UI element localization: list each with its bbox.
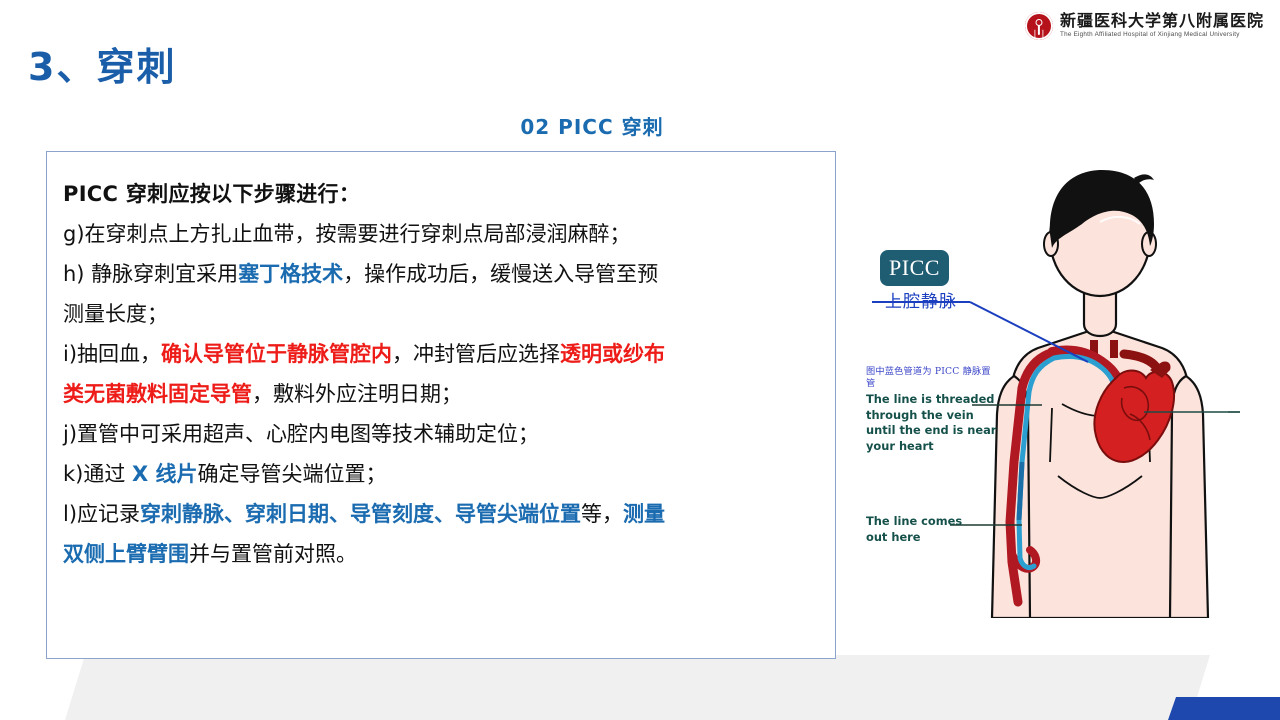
- card-heading: PICC 穿刺应按以下步骤进行：: [63, 174, 815, 214]
- slide-root: 新疆医科大学第八附属医院 The Eighth Affiliated Hospi…: [0, 0, 1280, 720]
- text-run: 测量长度；: [63, 302, 168, 326]
- text-run: ，冲封管后应选择: [392, 342, 560, 366]
- caption-english-heart: The line is threaded through the vein un…: [866, 392, 1002, 454]
- text-run: 透明或纱布: [560, 342, 665, 366]
- text-run: 类无菌敷料固定导管: [63, 382, 252, 406]
- card-line-k: k)通过 X 线片确定导管尖端位置；: [63, 454, 815, 494]
- card-line-l1: l)应记录穿刺静脉、穿刺日期、导管刻度、导管尖端位置等，测量: [63, 494, 815, 534]
- caption-english-exit: The line comes out here: [866, 514, 986, 545]
- section-subtitle: 02 PICC 穿刺: [0, 111, 1280, 140]
- text-run: 塞丁格技术: [238, 262, 343, 286]
- text-run: X 线片: [132, 462, 198, 486]
- card-line-g: g)在穿刺点上方扎止血带，按需要进行穿刺点局部浸润麻醉；: [63, 214, 815, 254]
- text-run: 双侧上臂臂围: [63, 542, 189, 566]
- text-run: 等，: [581, 502, 623, 526]
- text-run: 确定导管尖端位置；: [198, 462, 387, 486]
- card-line-l2: 双侧上臂臂围并与置管前对照。: [63, 534, 815, 574]
- text-run: 确认导管位于静脉管腔内: [161, 342, 392, 366]
- decorative-blue-bar: [1168, 697, 1280, 720]
- text-run: h) 静脉穿刺宜采用: [63, 262, 238, 286]
- caption-chinese: 图中蓝色管道为 PICC 静脉置管: [866, 366, 996, 390]
- picc-anatomy-illustration: PICC 上腔静脉 图中蓝色管道为 PICC 静脉置管 The line is …: [862, 162, 1240, 618]
- text-run: j)置管中可采用超声、心腔内电图等技术辅助定位；: [63, 422, 539, 446]
- text-run: i)抽回血，: [63, 342, 161, 366]
- anatomy-figure-icon: [862, 162, 1240, 618]
- text-run: g)在穿刺点上方扎止血带，按需要进行穿刺点局部浸润麻醉；: [63, 222, 631, 246]
- hospital-name-cn: 新疆医科大学第八附属医院: [1060, 13, 1264, 29]
- card-line-h1: h) 静脉穿刺宜采用塞丁格技术，操作成功后，缓慢送入导管至预: [63, 254, 815, 294]
- card-line-i2: 类无菌敷料固定导管，敷料外应注明日期；: [63, 374, 815, 414]
- hospital-emblem-icon: [1025, 12, 1053, 40]
- superior-vena-cava-label: 上腔静脉: [885, 287, 957, 312]
- card-line-j: j)置管中可采用超声、心腔内电图等技术辅助定位；: [63, 414, 815, 454]
- decorative-trapezoid: [0, 655, 1280, 720]
- text-run: ，敷料外应注明日期；: [252, 382, 462, 406]
- hospital-logo-text: 新疆医科大学第八附属医院 The Eighth Affiliated Hospi…: [1060, 13, 1264, 38]
- picc-badge: PICC: [880, 250, 949, 286]
- card-line-i1: i)抽回血，确认导管位于静脉管腔内，冲封管后应选择透明或纱布: [63, 334, 815, 374]
- text-run: 测量: [623, 502, 665, 526]
- text-run: 穿刺静脉、穿刺日期、导管刻度、导管尖端位置: [140, 502, 581, 526]
- procedure-steps-card: PICC 穿刺应按以下步骤进行： g)在穿刺点上方扎止血带，按需要进行穿刺点局部…: [46, 151, 836, 659]
- page-title: 3、穿刺: [28, 36, 176, 91]
- hospital-logo: 新疆医科大学第八附属医院 The Eighth Affiliated Hospi…: [1025, 10, 1264, 42]
- card-line-h2: 测量长度；: [63, 294, 815, 334]
- text-run: ，操作成功后，缓慢送入导管至预: [343, 262, 658, 286]
- text-run: 并与置管前对照。: [189, 542, 357, 566]
- card-line-list: g)在穿刺点上方扎止血带，按需要进行穿刺点局部浸润麻醉；h) 静脉穿刺宜采用塞丁…: [63, 214, 815, 574]
- text-run: l)应记录: [63, 502, 140, 526]
- hospital-name-en: The Eighth Affiliated Hospital of Xinjia…: [1060, 32, 1264, 38]
- text-run: k)通过: [63, 462, 132, 486]
